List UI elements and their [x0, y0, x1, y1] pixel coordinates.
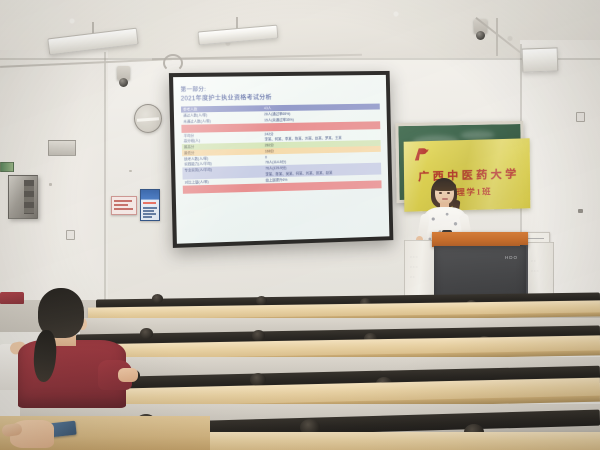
wall-speaker	[522, 47, 559, 72]
slide-title-line2: 2021年度护士执业资格考试分析	[181, 92, 380, 104]
wall-seam	[104, 52, 106, 320]
bench-bracket	[256, 296, 267, 305]
foreground-desk	[0, 402, 210, 450]
electrical-panel[interactable]	[8, 175, 38, 219]
ceiling-conduit	[496, 18, 498, 56]
slide-title: 第一部分: 2021年度护士执业资格考试分析	[180, 84, 379, 104]
notice-poster-red	[111, 196, 137, 215]
wall-outlet[interactable]	[66, 230, 75, 240]
wall-clock	[134, 104, 162, 133]
bench-bracket	[252, 330, 265, 341]
wall-mark	[129, 170, 132, 172]
wall-outlet[interactable]	[576, 112, 585, 122]
presentation-slide: 第一部分: 2021年度护士执业资格考试分析 参考人数 43人 通过人数(人/率…	[173, 75, 389, 244]
slide-data-table: 参考人数 43人 通过人数(人/率) 28人(通过率65%) 未通过人数(人/率…	[181, 104, 382, 194]
student-forearm	[118, 368, 138, 382]
notice-poster-blue	[140, 189, 160, 221]
conduit-loop	[163, 54, 183, 72]
presenter-eye	[439, 192, 442, 194]
podium-desktop	[432, 232, 528, 247]
wall-vent	[48, 140, 76, 156]
bench-bracket	[250, 373, 266, 386]
presenter-eye	[447, 192, 450, 194]
presenter-mouth	[442, 198, 448, 200]
bench-bracket	[140, 328, 153, 339]
projection-screen: 第一部分: 2021年度护士执业资格考试分析 参考人数 43人 通过人数(人/率…	[169, 71, 393, 248]
slide-title-line1: 第一部分:	[180, 87, 206, 93]
wall-indicator-light	[0, 162, 14, 172]
lecture-hall-scene: 第一部分: 2021年度护士执业资格考试分析 参考人数 43人 通过人数(人/率…	[0, 0, 600, 450]
wall-seam	[0, 58, 600, 60]
podium-brand-label: HDO	[505, 255, 518, 260]
wall-mark	[49, 183, 52, 186]
security-camera-icon	[117, 66, 130, 80]
wall-mark	[578, 209, 583, 213]
presenter-hair-front	[433, 181, 456, 191]
bench-bracket	[152, 294, 163, 303]
audience-student-foreground	[6, 288, 134, 408]
